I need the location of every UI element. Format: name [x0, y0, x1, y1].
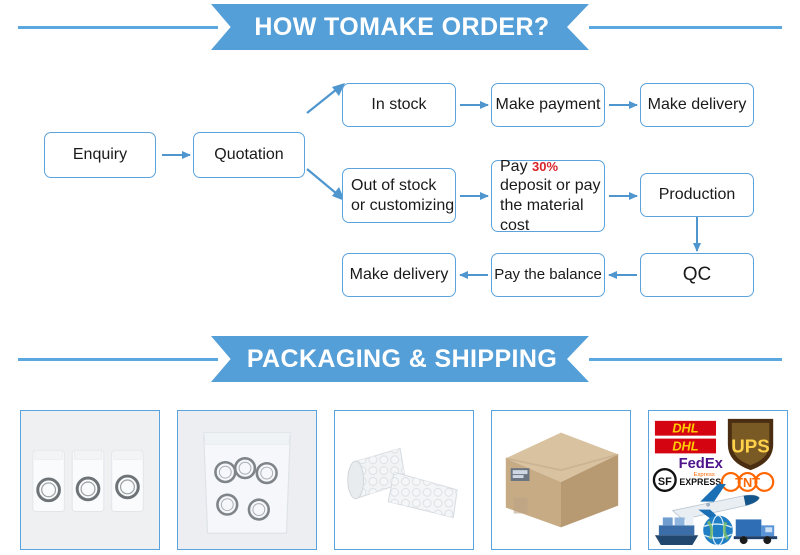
ribbon-shape: HOW TOMAKE ORDER?	[211, 4, 589, 50]
globe-icon	[703, 515, 733, 545]
svg-text:FedEx: FedEx	[679, 456, 724, 472]
packaging-card-poly-bags-single-rings[interactable]	[20, 410, 160, 550]
flow-node-out-of-stock[interactable]: Out of stock or customizing	[342, 168, 456, 223]
arrow-production-to-qc	[696, 217, 698, 251]
flow-node-label: Production	[659, 185, 736, 205]
flow-node-pay-deposit[interactable]: Pay 30% deposit or pay the material cost	[491, 160, 605, 232]
order-process-flowchart: Enquiry Quotation In stock Make payment …	[0, 55, 800, 325]
svg-text:TNT: TNT	[735, 475, 760, 490]
flow-node-pay-the-balance[interactable]: Pay the balance	[491, 253, 605, 297]
banner-rule-right	[582, 26, 782, 29]
arrow-make-payment-to-make-delivery	[609, 104, 637, 106]
flow-node-label: QC	[683, 263, 712, 286]
flow-node-label: Pay the balance	[494, 266, 602, 284]
shipping-carriers-image: DHL DHL UPS FedEx Express SF EXPRESS	[649, 411, 787, 549]
packaging-image-gallery: DHL DHL UPS FedEx Express SF EXPRESS	[0, 410, 800, 555]
poly-bags-single-rings-image	[21, 411, 159, 549]
pay-deposit-text-after: deposit or pay the material cost	[500, 177, 601, 233]
banner-packaging-and-shipping: PACKAGING & SHIPPING	[0, 336, 800, 382]
bulk-bag-rings-image	[178, 411, 316, 549]
flow-node-label: Quotation	[214, 145, 283, 165]
carton-box-image	[492, 411, 630, 549]
banner-rule-left	[18, 26, 218, 29]
bubble-wrap-roll-image	[335, 411, 473, 549]
flow-node-quotation[interactable]: Quotation	[193, 132, 305, 178]
flow-node-make-delivery-top[interactable]: Make delivery	[640, 83, 754, 127]
banner-title: PACKAGING & SHIPPING	[233, 345, 567, 374]
svg-text:EXPRESS: EXPRESS	[679, 477, 721, 487]
flow-node-in-stock[interactable]: In stock	[342, 83, 456, 127]
flow-node-enquiry[interactable]: Enquiry	[44, 132, 156, 178]
arrow-qc-to-pay-the-balance	[609, 274, 637, 276]
banner-title: HOW TOMAKE ORDER?	[240, 13, 559, 42]
svg-text:UPS: UPS	[731, 435, 770, 456]
arrow-pay-the-balance-to-make-delivery	[460, 274, 488, 276]
svg-text:DHL: DHL	[672, 421, 698, 436]
flow-node-label: Out of stock or customizing	[351, 176, 455, 215]
flow-node-make-payment[interactable]: Make payment	[491, 83, 605, 127]
flow-node-make-delivery-bottom[interactable]: Make delivery	[342, 253, 456, 297]
arrow-in-stock-to-make-payment	[460, 104, 488, 106]
flow-node-label: Pay 30% deposit or pay the material cost	[500, 157, 604, 235]
packaging-card-carton-box[interactable]	[491, 410, 631, 550]
packaging-card-shipping-carriers[interactable]: DHL DHL UPS FedEx Express SF EXPRESS	[648, 410, 788, 550]
banner-how-to-make-order: HOW TOMAKE ORDER?	[0, 4, 800, 50]
flow-node-label: Make delivery	[648, 95, 747, 115]
deposit-percent: 30%	[532, 159, 558, 174]
flow-node-production[interactable]: Production	[640, 173, 754, 217]
arrow-pay-deposit-to-production	[609, 195, 637, 197]
arrow-out-of-stock-to-pay-deposit	[460, 195, 488, 197]
banner-rule-right	[582, 358, 782, 361]
banner-rule-left	[18, 358, 218, 361]
ribbon-shape: PACKAGING & SHIPPING	[211, 336, 589, 382]
flow-node-label: Make payment	[496, 95, 601, 115]
packaging-card-bubble-wrap-roll[interactable]	[334, 410, 474, 550]
packaging-card-bulk-bag-rings[interactable]	[177, 410, 317, 550]
flow-node-label: In stock	[371, 95, 426, 115]
pay-deposit-text-before: Pay	[500, 158, 532, 175]
flow-node-qc[interactable]: QC	[640, 253, 754, 297]
svg-text:SF: SF	[658, 476, 672, 488]
flow-node-label: Make delivery	[350, 265, 449, 285]
flow-node-label: Enquiry	[73, 145, 127, 165]
arrow-enquiry-to-quotation	[162, 154, 190, 156]
svg-text:DHL: DHL	[672, 438, 698, 453]
